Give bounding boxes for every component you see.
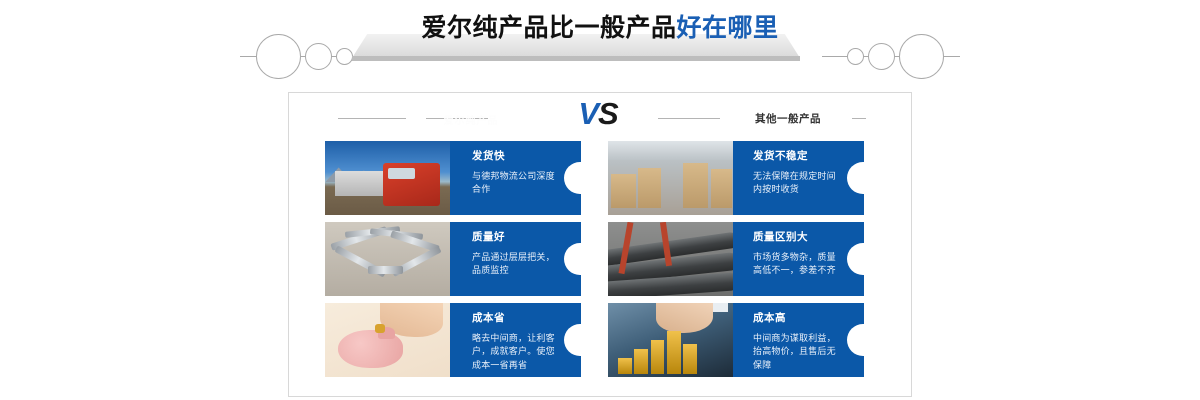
right-column-label: 其他一般产品 bbox=[728, 111, 848, 126]
card-notch bbox=[847, 243, 864, 275]
left-column-label: 爱尔纯产品 bbox=[416, 112, 526, 127]
disadvantage-card-body: 质量区别大 市场货多物杂，质量高低不一，参差不齐 bbox=[733, 222, 864, 296]
page-title-main: 爱尔纯产品比一般产品 bbox=[421, 14, 676, 42]
advantage-card-body: 质量好 产品通过层层把关，品质监控 bbox=[450, 222, 581, 296]
advantage-card-title: 发货快 bbox=[472, 151, 555, 163]
gold-coins-photo bbox=[608, 303, 733, 377]
truck-photo bbox=[325, 141, 450, 215]
advantage-card[interactable]: 质量好 产品通过层层把关，品质监控 bbox=[325, 222, 581, 296]
vs-rule-left-outer bbox=[338, 118, 406, 119]
disadvantage-card-body: 成本高 中间商为谋取利益，抬高物价，且售后无保障 bbox=[733, 303, 864, 377]
advantage-card[interactable]: 成本省 略去中间商，让利客户，成就客户。使您成本一省再省 bbox=[325, 303, 581, 377]
disadvantage-card[interactable]: 成本高 中间商为谋取利益，抬高物价，且售后无保障 bbox=[608, 303, 864, 377]
advantage-card[interactable]: 发货快 与德邦物流公司深度合作 bbox=[325, 141, 581, 215]
disadvantage-card-desc: 中间商为谋取利益，抬高物价，且售后无保障 bbox=[753, 332, 838, 373]
disadvantage-card-desc: 无法保障在规定时间内按时收货 bbox=[753, 170, 838, 197]
warehouse-photo bbox=[608, 141, 733, 215]
page-title: 爱尔纯产品比一般产品好在哪里 bbox=[0, 8, 1200, 44]
disadvantage-card-title: 成本高 bbox=[753, 313, 838, 325]
advantage-card-desc: 与德邦物流公司深度合作 bbox=[472, 170, 555, 197]
steel-rods-photo bbox=[325, 222, 450, 296]
vs-rule-right-outer bbox=[852, 118, 866, 119]
disadvantage-card[interactable]: 质量区别大 市场货多物杂，质量高低不一，参差不齐 bbox=[608, 222, 864, 296]
decorative-circle-left-small bbox=[336, 48, 353, 65]
piggy-bank-photo bbox=[325, 303, 450, 377]
card-notch bbox=[564, 162, 581, 194]
card-notch bbox=[847, 324, 864, 356]
vs-rule-right-inner bbox=[658, 118, 720, 119]
decorative-circle-left-medium bbox=[305, 43, 332, 70]
decorative-circle-right-medium bbox=[868, 43, 895, 70]
page-header: 爱尔纯产品比一般产品好在哪里 bbox=[0, 0, 1200, 86]
disadvantage-card[interactable]: 发货不稳定 无法保障在规定时间内按时收货 bbox=[608, 141, 864, 215]
card-notch bbox=[564, 243, 581, 275]
card-notch bbox=[847, 162, 864, 194]
advantage-card-desc: 产品通过层层把关，品质监控 bbox=[472, 251, 555, 278]
advantage-card-body: 成本省 略去中间商，让利客户，成就客户。使您成本一省再省 bbox=[450, 303, 581, 377]
advantage-card-desc: 略去中间商，让利客户，成就客户。使您成本一省再省 bbox=[472, 332, 555, 373]
title-banner-edge bbox=[352, 56, 800, 61]
disadvantage-card-desc: 市场货多物杂，质量高低不一，参差不齐 bbox=[753, 251, 838, 278]
large-pipes-photo bbox=[608, 222, 733, 296]
disadvantage-card-title: 发货不稳定 bbox=[753, 151, 838, 163]
vs-letter-v: V bbox=[578, 96, 598, 131]
vs-letter-s: S bbox=[598, 96, 618, 131]
disadvantage-card-body: 发货不稳定 无法保障在规定时间内按时收货 bbox=[733, 141, 864, 215]
disadvantage-card-title: 质量区别大 bbox=[753, 232, 838, 244]
advantage-card-title: 成本省 bbox=[472, 313, 555, 325]
advantage-card-title: 质量好 bbox=[472, 232, 555, 244]
decorative-circle-right-small bbox=[847, 48, 864, 65]
vs-badge: VS bbox=[558, 96, 638, 132]
versus-row: 爱尔纯产品 VS 其他一般产品 bbox=[288, 96, 912, 138]
advantage-card-body: 发货快 与德邦物流公司深度合作 bbox=[450, 141, 581, 215]
card-notch bbox=[564, 324, 581, 356]
page-title-accent: 好在哪里 bbox=[677, 14, 779, 42]
